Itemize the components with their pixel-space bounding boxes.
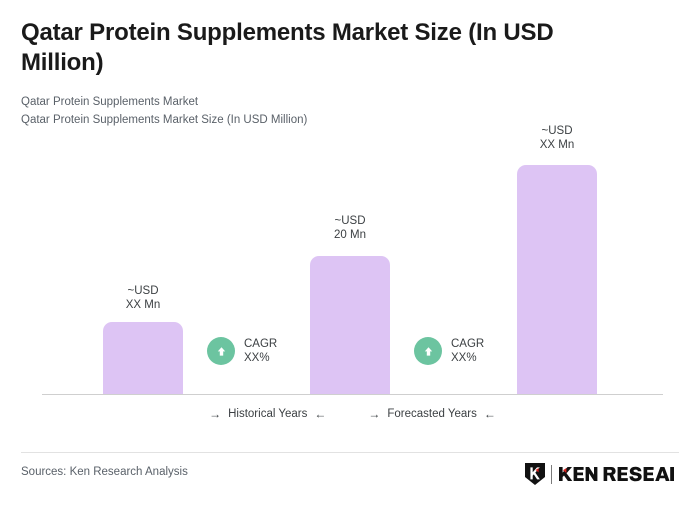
bar-label-forecast-line2: XX Mn (497, 138, 617, 152)
bar-label-historical-line1: ~USD (83, 284, 203, 298)
period-forecasted: → Forecasted Years ← (368, 408, 496, 420)
cagr-text-historical: CAGR XX% (244, 337, 277, 366)
ken-research-logo (524, 462, 676, 486)
period-forecasted-label: Forecasted Years (387, 408, 477, 420)
bar-label-historical-line2: XX Mn (83, 298, 203, 312)
cagr-annotation-historical: CAGR XX% (207, 337, 277, 366)
chart-plot-area: ~USD XX Mn ~USD 20 Mn ~USD XX Mn CAGR XX… (0, 0, 700, 440)
cagr-historical-line1: CAGR (244, 337, 277, 351)
bar-forecast[interactable] (517, 165, 597, 394)
arrow-left-icon: ← (484, 408, 496, 420)
cagr-forecast-line1: CAGR (451, 337, 484, 351)
bar-base[interactable] (310, 256, 390, 394)
logo-divider (551, 465, 553, 484)
logo-wordmark (557, 465, 675, 483)
chart-page: Qatar Protein Supplements Market Size (I… (0, 0, 700, 520)
bar-label-forecast: ~USD XX Mn (497, 124, 617, 153)
cagr-text-forecast: CAGR XX% (451, 337, 484, 366)
bar-label-historical: ~USD XX Mn (83, 284, 203, 313)
arrow-left-icon: ← (314, 408, 326, 420)
period-historical-label: Historical Years (228, 408, 307, 420)
arrow-right-icon: → (209, 408, 221, 420)
arrow-up-icon (414, 337, 442, 365)
bar-label-forecast-line1: ~USD (497, 124, 617, 138)
period-historical: → Historical Years ← (209, 408, 326, 420)
bar-historical[interactable] (103, 322, 183, 394)
period-legend: → Historical Years ← → Forecasted Years … (42, 408, 663, 420)
bar-label-base-line1: ~USD (290, 214, 410, 228)
x-axis-line (42, 394, 663, 395)
arrow-up-icon (207, 337, 235, 365)
sources-note: Sources: Ken Research Analysis (21, 466, 188, 478)
cagr-annotation-forecast: CAGR XX% (414, 337, 484, 366)
arrow-right-icon: → (368, 408, 380, 420)
cagr-forecast-line2: XX% (451, 351, 484, 365)
bar-label-base-line2: 20 Mn (290, 228, 410, 242)
bar-label-base: ~USD 20 Mn (290, 214, 410, 243)
cagr-historical-line2: XX% (244, 351, 277, 365)
shield-k-icon (524, 462, 546, 486)
footer-divider (21, 452, 679, 453)
